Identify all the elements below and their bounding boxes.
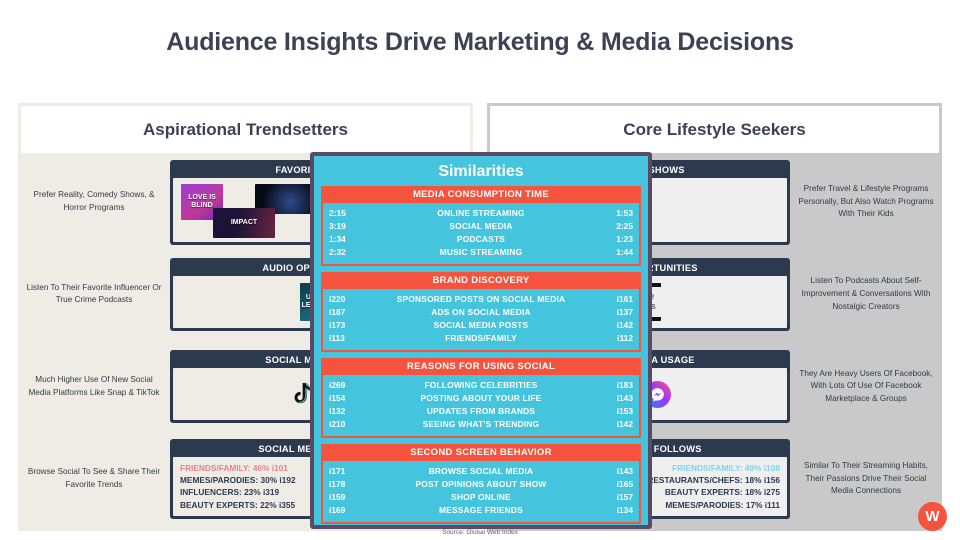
sim-label: UPDATES FROM BRANDS	[373, 405, 589, 418]
sim-right-value: i157	[589, 491, 633, 504]
source-note: Source: Global Web Index	[0, 529, 960, 536]
sim-left-value: i169	[329, 504, 373, 517]
sim-row: 3:19 SOCIAL MEDIA 2:25	[329, 220, 633, 233]
sim-row: 1:34 PODCASTS 1:23	[329, 233, 633, 246]
sim-block-second-screen-behavior: SECOND SCREEN BEHAVIOR i171 BROWSE SOCIA…	[321, 444, 641, 524]
left-row-text-1: Listen To Their Favorite Influencer Or T…	[24, 282, 164, 307]
sim-row: i178 POST OPINIONS ABOUT SHOW i165	[329, 478, 633, 491]
sim-right-value: 2:25	[589, 220, 633, 233]
sim-left-value: i159	[329, 491, 373, 504]
right-row-text-3: Similar To Their Streaming Habits, Their…	[796, 460, 936, 498]
sim-row: i169 MESSAGE FRIENDS i134	[329, 504, 633, 517]
sim-heading: MEDIA CONSUMPTION TIME	[321, 186, 641, 203]
sim-row: i171 BROWSE SOCIAL MEDIA i143	[329, 465, 633, 478]
sim-body: i269 FOLLOWING CELEBRITIES i183 i154 POS…	[321, 375, 641, 438]
sim-right-value: i112	[589, 332, 633, 345]
similarities-title: Similarities	[321, 161, 641, 186]
sim-left-value: i173	[329, 319, 373, 332]
sim-right-value: i143	[589, 465, 633, 478]
sim-right-value: 1:53	[589, 207, 633, 220]
sim-row: i220 SPONSORED POSTS ON SOCIAL MEDIA i16…	[329, 293, 633, 306]
sim-right-value: i134	[589, 504, 633, 517]
sim-left-value: i187	[329, 306, 373, 319]
sim-left-value: i269	[329, 379, 373, 392]
brand-logo: W	[918, 502, 947, 531]
sim-label: SEEING WHAT'S TRENDING	[373, 418, 589, 431]
sim-block-reasons-for-using-social: REASONS FOR USING SOCIAL i269 FOLLOWING …	[321, 358, 641, 438]
sim-label: SPONSORED POSTS ON SOCIAL MEDIA	[373, 293, 589, 306]
sim-label: MUSIC STREAMING	[373, 246, 589, 259]
sim-row: 2:15 ONLINE STREAMING 1:53	[329, 207, 633, 220]
sim-heading: SECOND SCREEN BEHAVIOR	[321, 444, 641, 461]
sim-row: i173 SOCIAL MEDIA POSTS i142	[329, 319, 633, 332]
thumbnail-impact: IMPACT	[213, 208, 275, 238]
sim-right-value: i143	[589, 392, 633, 405]
sim-row: i154 POSTING ABOUT YOUR LIFE i143	[329, 392, 633, 405]
left-row-text-3: Browse Social To See & Share Their Favor…	[24, 466, 164, 491]
sim-right-value: i137	[589, 306, 633, 319]
left-column-header: Aspirational Trendsetters	[18, 103, 473, 153]
sim-left-value: i210	[329, 418, 373, 431]
sim-label: SOCIAL MEDIA POSTS	[373, 319, 589, 332]
sim-label: PODCASTS	[373, 233, 589, 246]
sim-left-value: 2:32	[329, 246, 373, 259]
sim-body: i171 BROWSE SOCIAL MEDIA i143 i178 POST …	[321, 461, 641, 524]
sim-row: i132 UPDATES FROM BRANDS i153	[329, 405, 633, 418]
similarities-panel: Similarities MEDIA CONSUMPTION TIME 2:15…	[310, 152, 652, 529]
sim-label: POST OPINIONS ABOUT SHOW	[373, 478, 589, 491]
left-row-text-0: Prefer Reality, Comedy Shows, & Horror P…	[24, 189, 164, 214]
sim-left-value: i220	[329, 293, 373, 306]
sim-row: i187 ADS ON SOCIAL MEDIA i137	[329, 306, 633, 319]
sim-body: 2:15 ONLINE STREAMING 1:53 3:19 SOCIAL M…	[321, 203, 641, 266]
right-row-text-1: Listen To Podcasts About Self-Improvemen…	[796, 275, 936, 313]
sim-right-value: 1:44	[589, 246, 633, 259]
sim-right-value: i153	[589, 405, 633, 418]
page-title: Audience Insights Drive Marketing & Medi…	[0, 28, 960, 57]
left-row-text-2: Much Higher Use Of New Social Media Plat…	[24, 374, 164, 399]
sim-left-value: 2:15	[329, 207, 373, 220]
thumbnail-label: IMPACT	[231, 219, 257, 227]
sim-heading: REASONS FOR USING SOCIAL	[321, 358, 641, 375]
sim-body: i220 SPONSORED POSTS ON SOCIAL MEDIA i16…	[321, 289, 641, 352]
sim-block-media-consumption: MEDIA CONSUMPTION TIME 2:15 ONLINE STREA…	[321, 186, 641, 266]
sim-left-value: 1:34	[329, 233, 373, 246]
sim-right-value: 1:23	[589, 233, 633, 246]
sim-left-value: i132	[329, 405, 373, 418]
sim-left-value: i113	[329, 332, 373, 345]
sim-right-value: i161	[589, 293, 633, 306]
sim-left-value: i178	[329, 478, 373, 491]
sim-right-value: i142	[589, 418, 633, 431]
sim-label: SHOP ONLINE	[373, 491, 589, 504]
sim-left-value: 3:19	[329, 220, 373, 233]
sim-row: i210 SEEING WHAT'S TRENDING i142	[329, 418, 633, 431]
sim-right-value: i183	[589, 379, 633, 392]
right-row-text-2: They Are Heavy Users Of Facebook, With L…	[796, 368, 936, 406]
sim-label: POSTING ABOUT YOUR LIFE	[373, 392, 589, 405]
sim-label: SOCIAL MEDIA	[373, 220, 589, 233]
sim-label: MESSAGE FRIENDS	[373, 504, 589, 517]
sim-row: i269 FOLLOWING CELEBRITIES i183	[329, 379, 633, 392]
right-column-header: Core Lifestyle Seekers	[487, 103, 942, 153]
sim-right-value: i165	[589, 478, 633, 491]
sim-label: ONLINE STREAMING	[373, 207, 589, 220]
sim-row: i159 SHOP ONLINE i157	[329, 491, 633, 504]
sim-heading: BRAND DISCOVERY	[321, 272, 641, 289]
sim-label: FRIENDS/FAMILY	[373, 332, 589, 345]
sim-label: BROWSE SOCIAL MEDIA	[373, 465, 589, 478]
right-row-text-0: Prefer Travel & Lifestyle Programs Perso…	[796, 183, 936, 221]
sim-left-value: i154	[329, 392, 373, 405]
sim-block-brand-discovery: BRAND DISCOVERY i220 SPONSORED POSTS ON …	[321, 272, 641, 352]
sim-label: ADS ON SOCIAL MEDIA	[373, 306, 589, 319]
sim-label: FOLLOWING CELEBRITIES	[373, 379, 589, 392]
sim-right-value: i142	[589, 319, 633, 332]
sim-left-value: i171	[329, 465, 373, 478]
sim-row: 2:32 MUSIC STREAMING 1:44	[329, 246, 633, 259]
sim-row: i113 FRIENDS/FAMILY i112	[329, 332, 633, 345]
